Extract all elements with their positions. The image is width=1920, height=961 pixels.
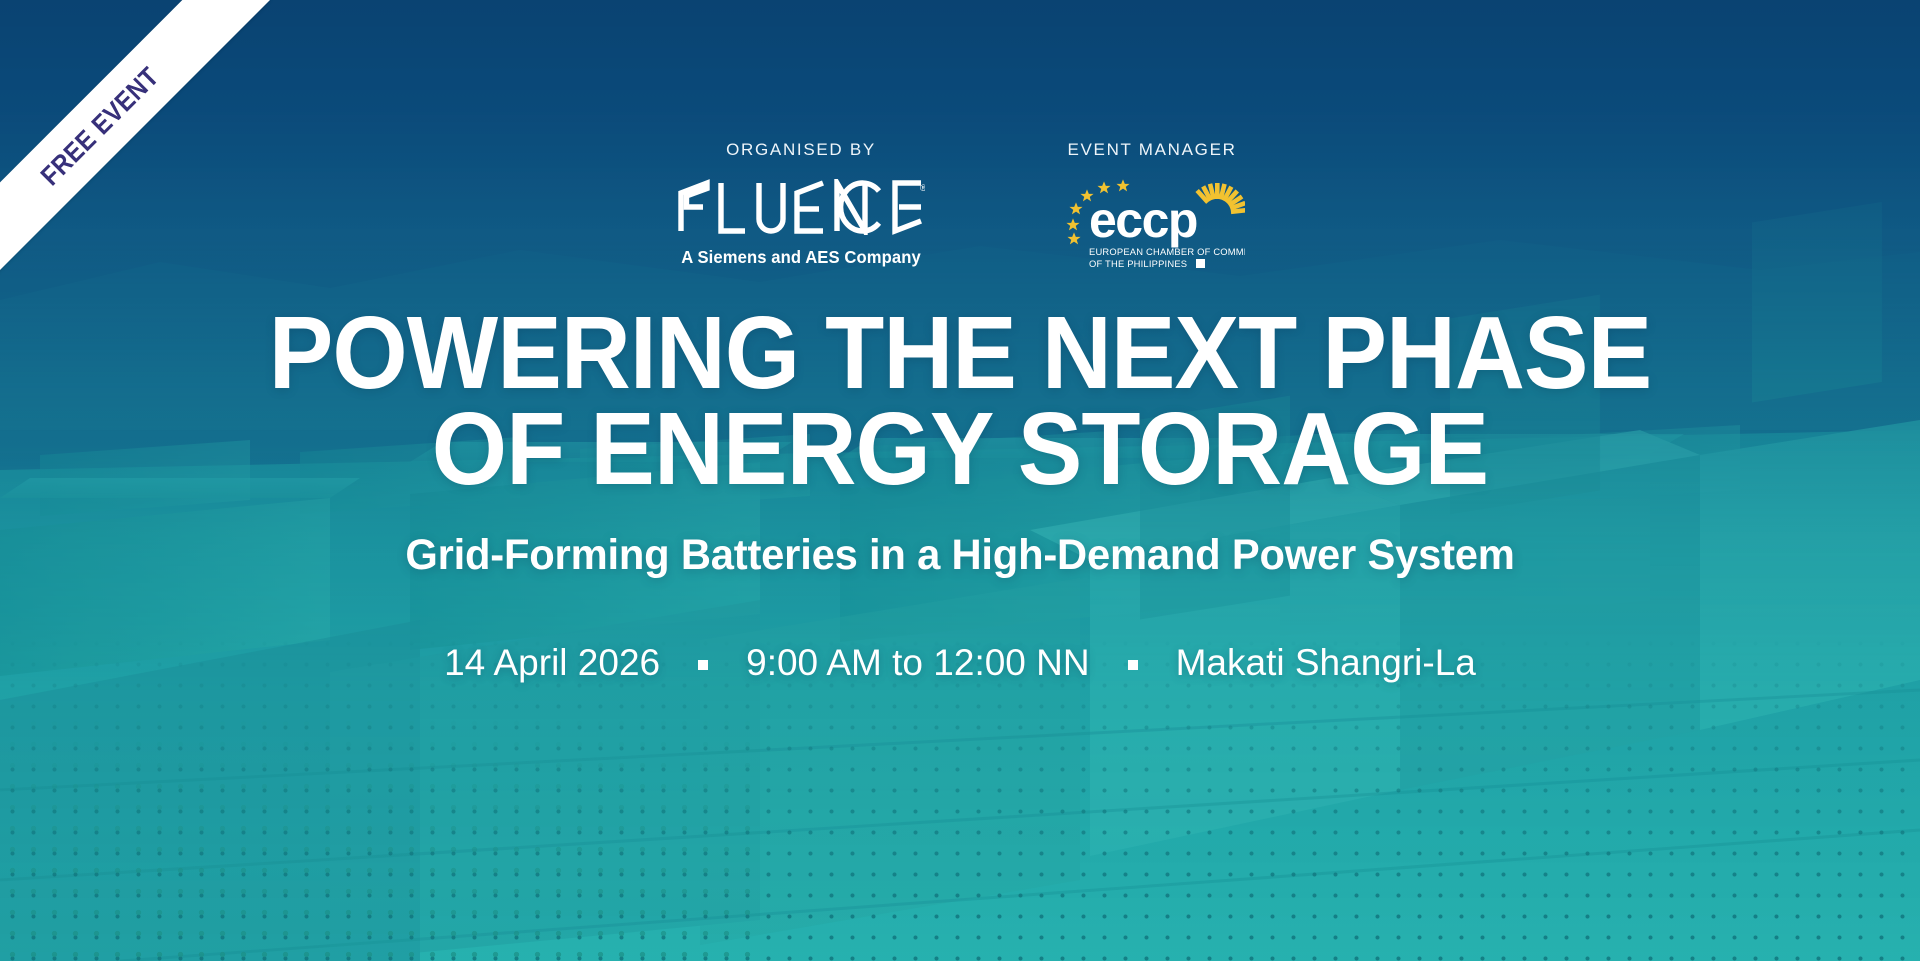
event-time: 9:00 AM to 12:00 NN <box>746 642 1089 684</box>
fluence-tagline: A Siemens and AES Company <box>681 247 921 268</box>
event-banner: FREE EVENT ORGANISED BY <box>0 0 1920 961</box>
event-manager-kicker: EVENT MANAGER <box>1067 140 1236 160</box>
event-venue: Makati Shangri-La <box>1176 642 1476 684</box>
eccp-logo: eccp EUROPEAN CHAMBER OF COMMERCE OF THE… <box>1059 179 1245 275</box>
organiser-block: ORGANISED BY <box>675 140 927 268</box>
svg-text:®: ® <box>920 183 925 193</box>
svg-text:eccp: eccp <box>1089 192 1197 248</box>
event-details: 14 April 2026 9:00 AM to 12:00 NN Makati… <box>0 642 1920 684</box>
credits-strip: ORGANISED BY <box>0 140 1920 275</box>
square-bullet-icon <box>698 660 708 670</box>
page-title: POWERING THE NEXT PHASE OF ENERGY STORAG… <box>58 305 1863 497</box>
square-bullet-icon <box>1128 660 1138 670</box>
page-subtitle: Grid-Forming Batteries in a High-Demand … <box>29 531 1891 580</box>
event-manager-block: EVENT MANAGER <box>1059 140 1245 275</box>
svg-text:OF THE PHILIPPINES: OF THE PHILIPPINES <box>1089 258 1187 269</box>
organiser-kicker: ORGANISED BY <box>726 140 876 160</box>
fluence-logo: ® <box>677 179 925 235</box>
event-date: 14 April 2026 <box>444 642 660 684</box>
hero-content: POWERING THE NEXT PHASE OF ENERGY STORAG… <box>0 305 1920 684</box>
sun-rays <box>1195 183 1245 214</box>
svg-text:EUROPEAN CHAMBER OF COMMERCE: EUROPEAN CHAMBER OF COMMERCE <box>1089 246 1245 257</box>
halftone-dot-pattern-accent <box>0 711 760 961</box>
title-line-2: OF ENERGY STORAGE <box>58 401 1863 497</box>
